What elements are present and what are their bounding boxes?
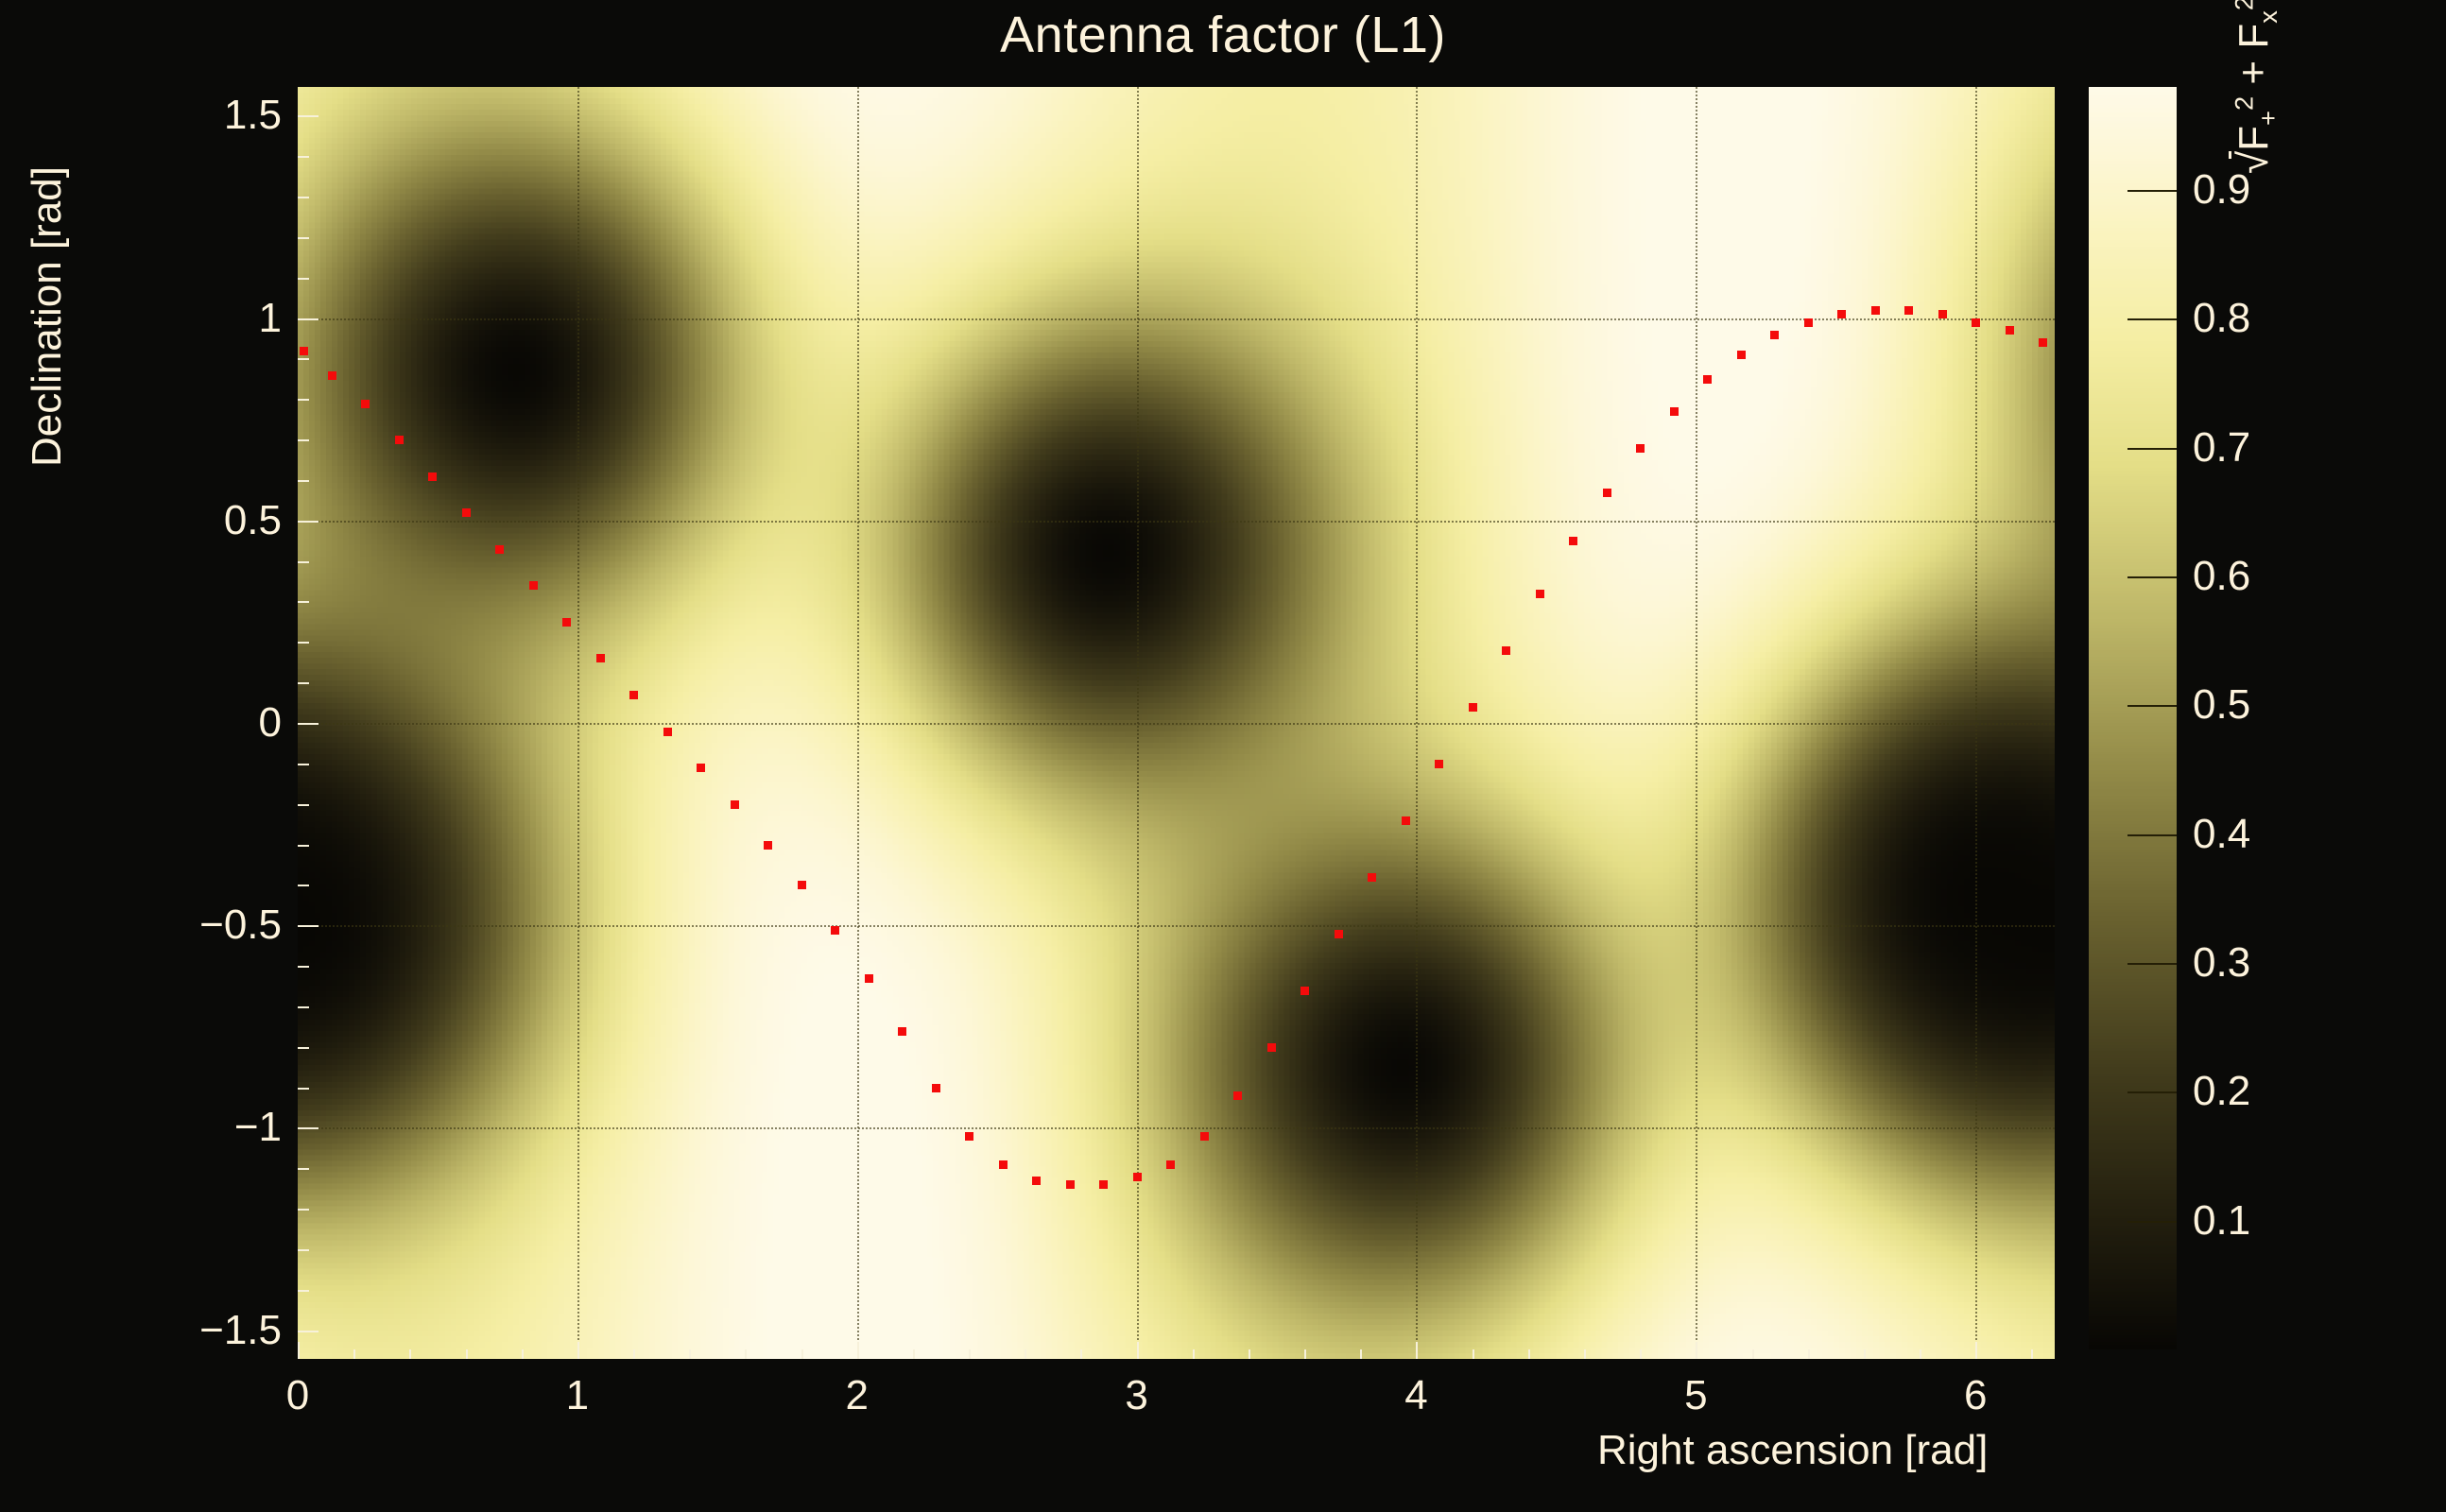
- curve-point: [1636, 444, 1645, 453]
- x-minor-tick: [1528, 1349, 1530, 1359]
- curve-point: [596, 654, 605, 662]
- colorbar-tick-label-5: 0.4: [2193, 811, 2250, 858]
- x-minor-tick: [1808, 1349, 1810, 1359]
- curve-point: [898, 1027, 906, 1036]
- curve-point: [932, 1084, 940, 1092]
- y-minor-tick: [298, 1290, 309, 1292]
- curve-point: [1469, 703, 1477, 712]
- curve-point: [1267, 1043, 1276, 1052]
- x-minor-tick: [969, 1349, 971, 1359]
- curve-point: [1233, 1091, 1242, 1100]
- y-minor-tick: [298, 399, 309, 401]
- curve-point: [1904, 306, 1913, 315]
- x-minor-tick: [1025, 1349, 1026, 1359]
- curve-point: [1703, 375, 1712, 384]
- x-minor-tick: [1304, 1349, 1306, 1359]
- curve-point: [1536, 590, 1544, 598]
- x-tick-5: [1696, 1342, 1697, 1359]
- y-tick-2: [298, 521, 319, 523]
- colorbar-tick-label-2: 0.7: [2193, 424, 2250, 472]
- y-tick-label-4: −0.5: [199, 902, 282, 949]
- colorbar-gradient: [2089, 87, 2177, 1349]
- x-minor-tick: [522, 1349, 524, 1359]
- curve-point: [1938, 310, 1947, 318]
- page-title: Antenna factor (L1): [0, 6, 2446, 64]
- x-minor-tick: [353, 1349, 355, 1359]
- y-tick-label-5: −1: [234, 1104, 282, 1151]
- colorbar-expression: F+2 + Fx2: [2231, 0, 2277, 151]
- y-tick-label-0: 1.5: [224, 92, 282, 139]
- curve-point: [2039, 338, 2047, 347]
- curve-point: [629, 691, 638, 699]
- y-tick-label-1: 1: [259, 295, 282, 342]
- x-minor-tick: [409, 1349, 411, 1359]
- y-tick-5: [298, 1127, 319, 1129]
- curve-point: [1737, 351, 1746, 359]
- colorbar-tick-2: [2127, 448, 2177, 450]
- curve-point: [865, 974, 873, 983]
- y-tick-label-2: 0.5: [224, 497, 282, 544]
- colorbar-tick-0: [2127, 190, 2177, 192]
- y-minor-tick: [298, 682, 309, 684]
- y-tick-4: [298, 925, 319, 927]
- curve-point: [495, 545, 504, 554]
- y-minor-tick: [298, 764, 309, 765]
- y-tick-label-3: 0: [259, 699, 282, 747]
- x-tick-6: [1975, 1342, 1977, 1359]
- curve-point: [328, 371, 336, 380]
- colorbar: [2089, 87, 2177, 1349]
- curve-point: [1569, 537, 1577, 545]
- x-tick-0: [298, 1342, 300, 1359]
- x-tick-label-3: 3: [1125, 1372, 1147, 1419]
- colorbar-tick-4: [2127, 705, 2177, 707]
- curve-point: [831, 926, 839, 935]
- y-minor-tick: [298, 1168, 309, 1170]
- y-minor-tick: [298, 1088, 309, 1090]
- galactic-plane-curve: [298, 87, 2055, 1359]
- y-tick-label-6: −1.5: [199, 1307, 282, 1354]
- y-minor-tick: [298, 480, 309, 482]
- x-axis-title: Right ascension [rad]: [1597, 1427, 1988, 1474]
- curve-point: [300, 347, 308, 355]
- colorbar-tick-1: [2127, 318, 2177, 320]
- curve-point: [1972, 318, 1980, 327]
- curve-point: [1133, 1173, 1142, 1181]
- heatmap-plot-area: [298, 87, 2055, 1359]
- y-tick-0: [298, 115, 319, 117]
- y-minor-tick: [298, 197, 309, 198]
- x-minor-tick: [1473, 1349, 1474, 1359]
- curve-point: [1099, 1180, 1108, 1189]
- y-minor-tick: [298, 439, 309, 441]
- x-minor-tick: [1752, 1349, 1754, 1359]
- curve-point: [999, 1160, 1008, 1169]
- colorbar-tick-3: [2127, 576, 2177, 578]
- x-tick-2: [857, 1342, 859, 1359]
- x-minor-tick: [1920, 1349, 1921, 1359]
- x-tick-1: [577, 1342, 579, 1359]
- x-minor-tick: [1193, 1349, 1195, 1359]
- curve-point: [1837, 310, 1846, 318]
- x-tick-3: [1137, 1342, 1139, 1359]
- f-cross-term: Fx2: [2231, 0, 2277, 49]
- plot-canvas: Antenna factor (L1) 1.510.50−0.5−1−1.5 0…: [0, 0, 2446, 1512]
- curve-point: [1670, 407, 1679, 416]
- curve-point: [764, 841, 772, 850]
- x-minor-tick: [1864, 1349, 1866, 1359]
- x-minor-tick: [466, 1349, 468, 1359]
- y-tick-3: [298, 723, 319, 725]
- curve-point: [1402, 816, 1410, 825]
- y-minor-tick: [298, 1249, 309, 1251]
- x-tick-label-2: 2: [845, 1372, 868, 1419]
- colorbar-tick-label-3: 0.6: [2193, 553, 2250, 600]
- f-plus-term: F+2: [2231, 96, 2277, 151]
- x-tick-label-4: 4: [1404, 1372, 1427, 1419]
- curve-point: [2006, 326, 2014, 335]
- x-minor-tick: [1080, 1349, 1082, 1359]
- y-axis-title: Declination [rad]: [24, 71, 71, 562]
- y-minor-tick: [298, 1047, 309, 1049]
- curve-point: [1032, 1177, 1041, 1185]
- colorbar-tick-6: [2127, 963, 2177, 965]
- curve-point: [361, 400, 370, 408]
- curve-point: [428, 472, 437, 481]
- curve-point: [965, 1132, 973, 1141]
- curve-point: [1804, 318, 1813, 327]
- x-tick-label-1: 1: [566, 1372, 589, 1419]
- y-minor-tick: [298, 642, 309, 644]
- x-tick-label-0: 0: [286, 1372, 309, 1419]
- y-minor-tick: [298, 1209, 309, 1211]
- colorbar-tick-label-6: 0.3: [2193, 939, 2250, 987]
- curve-point: [1770, 331, 1779, 339]
- x-tick-4: [1416, 1342, 1418, 1359]
- x-minor-tick: [2031, 1349, 2033, 1359]
- curve-point: [1066, 1180, 1075, 1189]
- colorbar-tick-7: [2127, 1091, 2177, 1093]
- y-tick-1: [298, 318, 319, 320]
- y-minor-tick: [298, 966, 309, 968]
- curve-point: [1335, 930, 1343, 938]
- curve-point: [663, 728, 672, 736]
- x-minor-tick: [745, 1349, 747, 1359]
- x-tick-label-6: 6: [1964, 1372, 1987, 1419]
- y-minor-tick: [298, 156, 309, 158]
- colorbar-title: √F+2 + Fx2: [2229, 0, 2317, 174]
- curve-point: [1200, 1132, 1209, 1141]
- curve-point: [395, 436, 404, 444]
- y-minor-tick: [298, 561, 309, 563]
- x-minor-tick: [801, 1349, 803, 1359]
- colorbar-tick-label-8: 0.1: [2193, 1197, 2250, 1245]
- x-minor-tick: [913, 1349, 915, 1359]
- x-tick-label-5: 5: [1684, 1372, 1707, 1419]
- x-minor-tick: [633, 1349, 635, 1359]
- colorbar-tick-label-4: 0.5: [2193, 681, 2250, 729]
- curve-point: [1301, 987, 1309, 995]
- curve-point: [1502, 646, 1510, 655]
- colorbar-tick-label-7: 0.2: [2193, 1068, 2250, 1115]
- curve-point: [731, 800, 739, 809]
- curve-point: [1435, 760, 1443, 768]
- curve-point: [1166, 1160, 1175, 1169]
- colorbar-tick-8: [2127, 1221, 2177, 1223]
- y-minor-tick: [298, 278, 309, 280]
- curve-point: [1368, 873, 1376, 882]
- curve-point: [529, 581, 538, 590]
- x-minor-tick: [1249, 1349, 1250, 1359]
- x-minor-tick: [1360, 1349, 1362, 1359]
- y-minor-tick: [298, 885, 309, 886]
- curve-point: [562, 618, 571, 627]
- curve-point: [1603, 489, 1611, 497]
- curve-point: [1871, 306, 1880, 315]
- y-minor-tick: [298, 804, 309, 806]
- colorbar-tick-label-1: 0.8: [2193, 295, 2250, 342]
- curve-point: [462, 508, 471, 517]
- sqrt-icon: √: [2231, 151, 2278, 174]
- colorbar-tick-5: [2127, 834, 2177, 836]
- y-minor-tick: [298, 1006, 309, 1008]
- x-minor-tick: [1584, 1349, 1586, 1359]
- x-minor-tick: [689, 1349, 691, 1359]
- curve-point: [697, 764, 705, 772]
- y-minor-tick: [298, 845, 309, 847]
- x-minor-tick: [1640, 1349, 1642, 1359]
- y-tick-6: [298, 1331, 319, 1332]
- curve-point: [798, 881, 806, 889]
- y-minor-tick: [298, 237, 309, 239]
- y-minor-tick: [298, 601, 309, 603]
- y-minor-tick: [298, 358, 309, 360]
